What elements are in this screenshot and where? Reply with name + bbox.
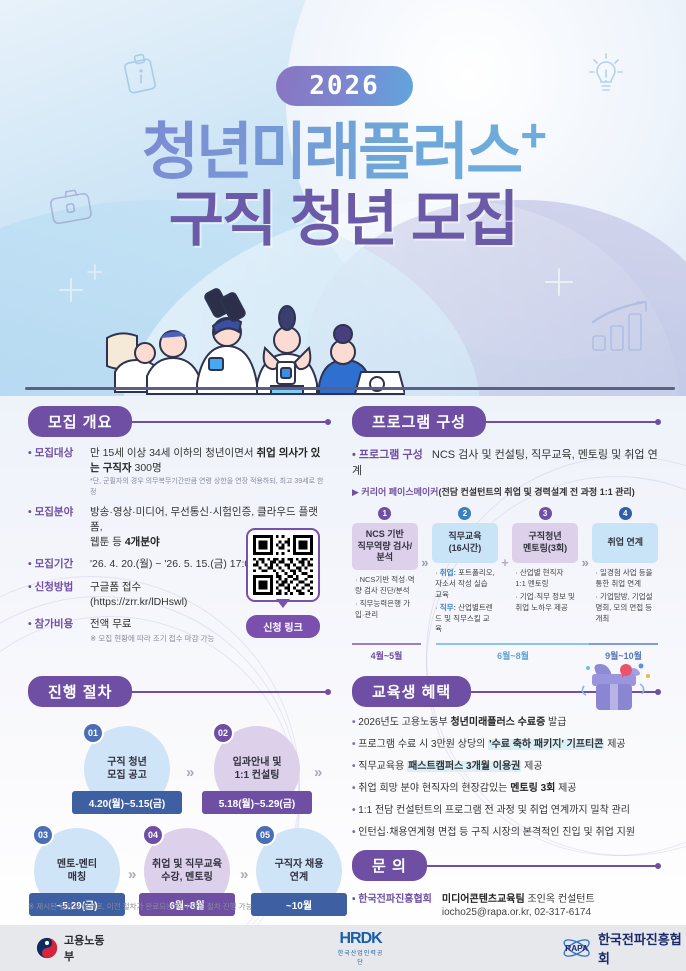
procedure-step-title: 구직 청년모집 공고 bbox=[107, 756, 147, 783]
overview-row-label: 모집분야 bbox=[28, 505, 90, 551]
logo-moel: 고용노동부 bbox=[36, 932, 110, 964]
contact-heading-bar: 문 의 bbox=[352, 852, 658, 878]
procedure-arrow-4: » bbox=[240, 866, 248, 883]
growth-chart-icon bbox=[589, 300, 651, 358]
program-step-3: 3 구직청년멘토링(3회) · 산업별 현직자 1:1 멘토링 · 기업·직무 … bbox=[512, 507, 578, 625]
title-plus-mark: + bbox=[520, 109, 544, 161]
info-badge-icon bbox=[120, 52, 160, 94]
step-connector-1: » bbox=[418, 507, 433, 570]
benefit-item: 1:1 전담 컨설턴트의 프로그램 전 과정 및 취업 연계까지 밀착 관리 bbox=[352, 804, 658, 818]
logo-hrdk: HRDK 한국산업인력공단 bbox=[336, 930, 384, 966]
procedure-step-title: 입과안내 및1:1 컨설팅 bbox=[233, 756, 282, 783]
procedure-step-title: 멘토-멘티매칭 bbox=[57, 858, 97, 885]
step-detail-item: · 일경험 사업 등을 통한 취업 연계 bbox=[595, 568, 655, 590]
procedure-step-number: 04 bbox=[142, 824, 164, 846]
program-heading-label: 프로그램 구성 bbox=[352, 406, 486, 437]
step-number-badge: 1 bbox=[378, 507, 391, 520]
procedure-step-period: 5.18(월)~5.29(금) bbox=[202, 791, 312, 814]
contact-details: 한국전파진흥협회 미디어콘텐츠교육팀 조인옥 컨설턴트 iocho25@rapa… bbox=[352, 890, 658, 918]
step-detail-item: · 기업탐방, 기업설명회, 모의 면접 등 개최 bbox=[595, 592, 655, 625]
step-detail-item: · 산업별 현직자 1:1 멘토링 bbox=[515, 568, 575, 590]
procedure-arrow-1: » bbox=[186, 764, 194, 781]
benefit-item: 인턴십·채용연계형 면접 등 구직 시장의 본격적인 진입 및 취업 지원 bbox=[352, 826, 658, 840]
overview-target-value: 만 15세 이상 34세 이하의 청년이면서 취업 의사가 있는 구직자 300… bbox=[90, 446, 328, 476]
benefit-item: 취업 희망 분야 현직자의 현장감있는 멘토링 3회 제공 bbox=[352, 782, 658, 796]
procedure-node-5: 05 구직자 채용연계 ~10월 bbox=[256, 828, 342, 914]
footer-logo-bar: 고용노동부 HRDK 한국산업인력공단 RAPA 한국전파진흥협회 bbox=[0, 925, 686, 971]
procedure-step-period: ~10월 bbox=[251, 893, 347, 916]
logo-moel-label: 고용노동부 bbox=[64, 932, 110, 964]
step-title: 취업 연계 bbox=[592, 523, 658, 563]
qr-block[interactable]: 신청 링크 bbox=[246, 528, 320, 638]
program-pacemaker-detail: (전담 컨설턴트의 취업 및 경력설계 전 과정 1:1 관리) bbox=[438, 487, 634, 497]
program-step-1: 1 NCS 기반직무역량 검사/분석 · NCS기반 적성·역량 검사 진단/분… bbox=[352, 507, 418, 632]
step-number-badge: 2 bbox=[458, 507, 471, 520]
contact-mail-phone[interactable]: iocho25@rapa.or.kr, 02-317-6174 bbox=[442, 907, 595, 918]
qr-code-frame[interactable] bbox=[246, 528, 320, 602]
step-detail-item: · NCS기반 적성·역량 검사 진단/분석 bbox=[355, 575, 415, 597]
gift-box-illustration bbox=[578, 660, 656, 720]
illustration-ground-line bbox=[25, 387, 675, 390]
overview-target-note: *단, 군필자의 경우 의무복무기간만큼 연령 상한을 연장 적용하되, 최고 … bbox=[90, 477, 328, 497]
procedure-node-2: 02 입과안내 및1:1 컨설팅 5.18(월)~5.29(금) bbox=[214, 726, 300, 812]
procedure-node-1: 01 구직 청년모집 공고 4.20(월)~5.15(금) bbox=[84, 726, 170, 812]
contact-team: 미디어콘텐츠교육팀 bbox=[442, 894, 525, 905]
procedure-step-period: 4.20(월)~5.15(금) bbox=[72, 791, 182, 814]
step-connector-2: + bbox=[498, 507, 513, 570]
procedure-step-number: 02 bbox=[212, 722, 234, 744]
procedure-heading-bar: 진행 절차 bbox=[28, 678, 328, 704]
step-title: 직무교육(16시간) bbox=[432, 523, 498, 563]
overview-row-value-wrap: 만 15세 이상 34세 이하의 청년이면서 취업 의사가 있는 구직자 300… bbox=[90, 446, 328, 498]
procedure-arrow-2: » bbox=[314, 764, 322, 781]
contact-person-block: 미디어콘텐츠교육팀 조인옥 컨설턴트 iocho25@rapa.or.kr, 0… bbox=[442, 890, 595, 918]
year-badge: 2026 bbox=[276, 66, 413, 106]
poster-title-line2: 구직 청년 모집 bbox=[0, 190, 686, 250]
people-illustration bbox=[105, 276, 405, 396]
procedure-arrow-3: » bbox=[128, 866, 136, 883]
contact-team-person: 미디어콘텐츠교육팀 조인옥 컨설턴트 bbox=[442, 890, 595, 905]
program-section: 프로그램 구성 프로그램 구성 NCS 검사 및 컨설팅, 직무교육, 멘토링 … bbox=[352, 408, 658, 662]
step-number-badge: 3 bbox=[539, 507, 552, 520]
overview-heading-bar: 모집 개요 bbox=[28, 408, 328, 434]
benefits-list: 2026년도 고용노동부 청년미래플러스 수료증 발급 프로그램 수료 시 3만… bbox=[352, 716, 658, 840]
overview-row-label: 참가비용 bbox=[28, 617, 90, 645]
program-summary-row: 프로그램 구성 NCS 검사 및 컨설팅, 직무교육, 멘토링 및 취업 연계 bbox=[352, 446, 658, 478]
qr-code-image[interactable] bbox=[253, 535, 313, 595]
logo-hrdk-sub: 한국산업인력공단 bbox=[336, 948, 384, 966]
contact-heading-label: 문 의 bbox=[352, 850, 427, 881]
program-pacemaker-row: ▶ 커리어 페이스메이커(전담 컨설턴트의 취업 및 경력설계 전 과정 1:1… bbox=[352, 485, 658, 498]
procedure-step-number: 05 bbox=[254, 824, 276, 846]
step-details: · 산업별 현직자 1:1 멘토링 · 기업·직무 정보 및 취업 노하우 제공 bbox=[512, 563, 578, 625]
procedure-step-title: 구직자 채용연계 bbox=[275, 858, 324, 885]
period-phase-1: 4월~5월 bbox=[352, 643, 421, 662]
step-detail-item: · 직무: 산업별트렌드 및 직무스킬 교육 bbox=[435, 603, 495, 636]
logo-rapa: RAPA 한국전파진흥협회 bbox=[561, 929, 686, 967]
benefits-heading-label: 교육생 혜택 bbox=[352, 676, 471, 707]
qr-apply-link-label[interactable]: 신청 링크 bbox=[246, 615, 320, 638]
overview-row-label: 모집대상 bbox=[28, 446, 90, 498]
program-step-2: 2 직무교육(16시간) · 취업: 포트폴리오, 자소서 작성 실습 교육 ·… bbox=[432, 507, 498, 641]
step-title: 구직청년멘토링(3회) bbox=[512, 523, 578, 563]
benefit-item: 프로그램 수료 시 3만원 상당의 '수료 축하 패키지' 기프티콘 제공 bbox=[352, 738, 658, 752]
step-details: · 취업: 포트폴리오, 자소서 작성 실습 교육 · 직무: 산업별트렌드 및… bbox=[432, 563, 498, 641]
program-summary-label: 프로그램 구성 bbox=[352, 449, 423, 461]
overview-heading-label: 모집 개요 bbox=[28, 406, 132, 437]
logo-hrdk-label: HRDK bbox=[336, 930, 384, 948]
sparkle-icon-2 bbox=[542, 265, 576, 299]
benefit-item: 직무교육용 패스트캠퍼스 3개월 이용권 제공 bbox=[352, 760, 658, 774]
procedure-flow: 01 구직 청년모집 공고 4.20(월)~5.15(금) » 02 입과안내 … bbox=[28, 718, 328, 908]
logo-rapa-label: 한국전파진흥협회 bbox=[598, 929, 686, 967]
program-step-4: 4 취업 연계 · 일경험 사업 등을 통한 취업 연계 · 기업탐방, 기업설… bbox=[592, 507, 658, 630]
overview-row-label: 신청방법 bbox=[28, 580, 90, 610]
taegeuk-icon bbox=[36, 936, 58, 960]
overview-row-target: 모집대상 만 15세 이상 34세 이하의 청년이면서 취업 의사가 있는 구직… bbox=[28, 446, 328, 498]
step-detail-item: · 기업·직무 정보 및 취업 노하우 제공 bbox=[515, 592, 575, 614]
overview-section: 모집 개요 모집대상 만 15세 이상 34세 이하의 청년이면서 취업 의사가… bbox=[28, 408, 328, 652]
contact-person: 조인옥 컨설턴트 bbox=[527, 894, 594, 905]
rapa-mark-icon: RAPA bbox=[561, 937, 592, 959]
program-pacemaker-label: ▶ 커리어 페이스메이커 bbox=[352, 487, 438, 497]
procedure-section: 진행 절차 01 구직 청년모집 공고 4.20(월)~5.15(금) » 02… bbox=[28, 678, 328, 908]
procedure-step-title: 취업 및 직무교육수강, 멘토링 bbox=[152, 858, 222, 885]
poster-title-line1: 청년미래플러스+ bbox=[0, 112, 686, 184]
poster-root: 2026 청년미래플러스+ 구직 청년 모집 bbox=[0, 0, 686, 971]
step-number-badge: 4 bbox=[619, 507, 632, 520]
procedure-heading-label: 진행 절차 bbox=[28, 676, 132, 707]
procedure-step-number: 01 bbox=[82, 722, 104, 744]
step-details: · 일경험 사업 등을 통한 취업 연계 · 기업탐방, 기업설명회, 모의 면… bbox=[592, 563, 658, 630]
step-title: NCS 기반직무역량 검사/분석 bbox=[352, 523, 418, 570]
title-line1-text: 청년미래플러스 bbox=[142, 118, 520, 187]
program-steps: 1 NCS 기반직무역량 검사/분석 · NCS기반 적성·역량 검사 진단/분… bbox=[352, 507, 658, 641]
period-phase-2: 6월~8월 bbox=[436, 643, 589, 662]
year-badge-label: 2026 bbox=[309, 71, 380, 101]
step-detail-item: · 취업: 포트폴리오, 자소서 작성 실습 교육 bbox=[435, 568, 495, 601]
overview-row-label: 모집기간 bbox=[28, 557, 90, 572]
step-detail-item: · 직무능력은행 가입·관리 bbox=[355, 599, 415, 621]
step-connector-3: » bbox=[578, 507, 593, 570]
procedure-step-number: 03 bbox=[32, 824, 54, 846]
step-details: · NCS기반 적성·역량 검사 진단/분석 · 직무능력은행 가입·관리 bbox=[352, 570, 418, 632]
contact-org: 한국전파진흥협회 bbox=[352, 890, 432, 918]
lightbulb-icon bbox=[586, 50, 626, 98]
contact-section: 문 의 한국전파진흥협회 미디어콘텐츠교육팀 조인옥 컨설턴트 iocho25@… bbox=[352, 852, 658, 918]
procedure-footnote: ※ 제시된 일정과 별개로, 이전 절차가 완료되는 즉시 다음 절차 진행 가… bbox=[28, 901, 253, 912]
hero-section: 2026 청년미래플러스+ 구직 청년 모집 bbox=[0, 0, 686, 400]
rapa-text: RAPA bbox=[565, 944, 588, 953]
benefits-section: 교육생 혜택 2 bbox=[352, 678, 658, 848]
program-heading-bar: 프로그램 구성 bbox=[352, 408, 658, 434]
